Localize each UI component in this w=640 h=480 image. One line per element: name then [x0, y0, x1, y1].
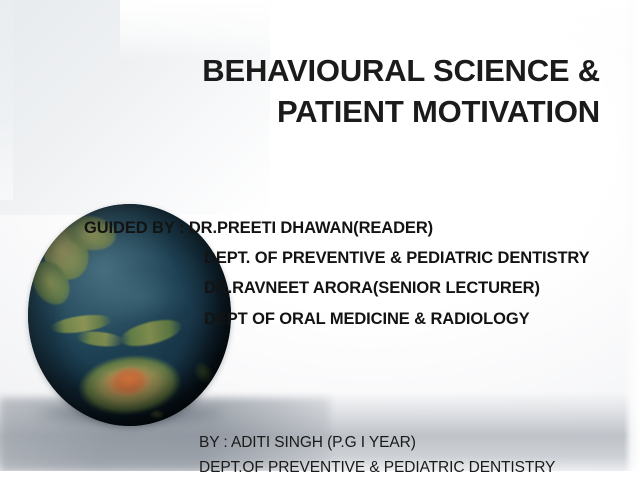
- guided-by-block: GUIDED BY : DR.PREETI DHAWAN(READER) DEP…: [84, 213, 590, 334]
- guided-by-line-4: DEPT OF ORAL MEDICINE & RADIOLOGY: [84, 304, 590, 334]
- presented-by-block: BY : ADITI SINGH (P.G I YEAR) DEPT.OF PR…: [199, 430, 555, 480]
- slide-title: BEHAVIOURAL SCIENCE & PATIENT MOTIVATION: [60, 50, 600, 132]
- slide-title-line-1: BEHAVIOURAL SCIENCE &: [60, 50, 600, 91]
- background-left-strip: [0, 0, 13, 200]
- background-right-edge: [624, 0, 640, 480]
- guided-by-line-3: DR.RAVNEET ARORA(SENIOR LECTURER): [84, 273, 590, 303]
- presented-by-line-1: BY : ADITI SINGH (P.G I YEAR): [199, 430, 555, 455]
- presented-by-line-2: DEPT.OF PREVENTIVE & PEDIATRIC DENTISTRY: [199, 455, 555, 480]
- guided-by-line-1: GUIDED BY : DR.PREETI DHAWAN(READER): [84, 213, 590, 243]
- slide-title-line-2: PATIENT MOTIVATION: [60, 91, 600, 132]
- presentation-slide: BEHAVIOURAL SCIENCE & PATIENT MOTIVATION…: [0, 0, 640, 480]
- guided-by-line-2: DEPT. OF PREVENTIVE & PEDIATRIC DENTISTR…: [84, 243, 590, 273]
